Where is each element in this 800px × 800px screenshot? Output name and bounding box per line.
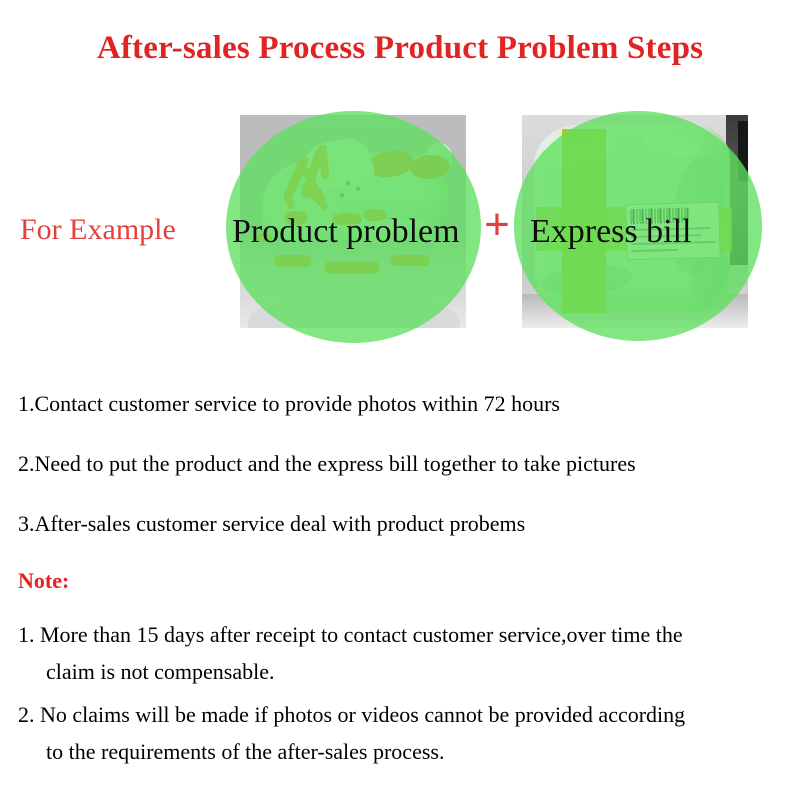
- note-item-1: 1. More than 15 days after receipt to co…: [18, 616, 788, 690]
- step-item-2: 2.Need to put the product and the expres…: [18, 452, 782, 476]
- note-item-1-line1: More than 15 days after receipt to conta…: [40, 622, 683, 647]
- photo-caption-express-bill: Express bill: [530, 213, 691, 251]
- background-dark-strip-inner: [738, 121, 748, 181]
- note-item-1-number: 1.: [18, 622, 35, 647]
- example-section: For Example: [0, 108, 800, 338]
- note-heading: Note:: [18, 568, 69, 594]
- photo-product-problem[interactable]: Product problem: [240, 115, 466, 328]
- for-example-label: For Example: [20, 213, 176, 247]
- note-item-1-line2: claim is not compensable.: [18, 653, 788, 690]
- photo-express-bill[interactable]: Express bill: [522, 115, 748, 328]
- plus-icon: +: [478, 206, 516, 244]
- step-item-1: 1.Contact customer service to provide ph…: [18, 392, 782, 416]
- note-item-2-line2: to the requirements of the after-sales p…: [18, 733, 788, 770]
- photo-caption-product-problem: Product problem: [232, 213, 460, 251]
- note-list: 1. More than 15 days after receipt to co…: [18, 616, 788, 776]
- steps-list: 1.Contact customer service to provide ph…: [18, 392, 782, 572]
- note-item-2-number: 2.: [18, 702, 35, 727]
- step-item-3: 3.After-sales customer service deal with…: [18, 512, 782, 536]
- note-item-2: 2. No claims will be made if photos or v…: [18, 696, 788, 770]
- note-item-2-line1: No claims will be made if photos or vide…: [40, 702, 685, 727]
- page-title: After-sales Process Product Problem Step…: [0, 30, 800, 67]
